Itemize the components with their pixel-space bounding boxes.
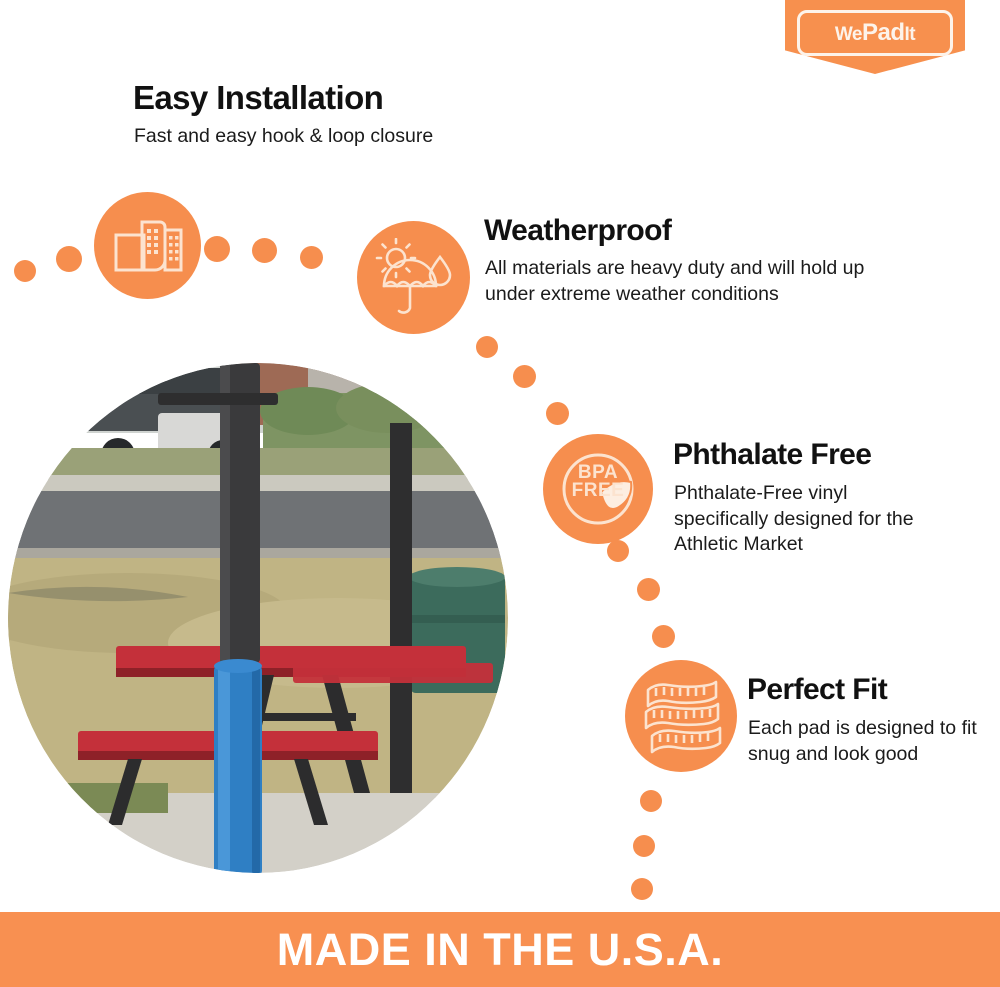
icon-circle-phthalate-free: BPA FREE	[543, 434, 653, 544]
logo-outline-box: WePadIt	[797, 10, 953, 56]
trail-dot	[14, 260, 36, 282]
trail-dot	[204, 236, 230, 262]
trail-dot	[652, 625, 675, 648]
made-in-usa-text: MADE IN THE U.S.A.	[277, 924, 724, 976]
brand-logo: WePadIt	[785, 0, 965, 74]
feature-title-easy-installation: Easy Installation	[133, 79, 383, 117]
infographic-page: WePadIt Easy Installation Fast and easy …	[0, 0, 1000, 987]
bpa-free-leaf-icon: BPA FREE	[553, 444, 643, 534]
trail-dot	[252, 238, 277, 263]
icon-circle-perfect-fit	[625, 660, 737, 772]
feature-title-weatherproof: Weatherproof	[484, 214, 671, 248]
trail-dot	[300, 246, 323, 269]
feature-title-perfect-fit: Perfect Fit	[747, 673, 887, 707]
feature-description-phthalate-free: Phthalate-Free vinyl specifically design…	[674, 481, 944, 558]
feature-description-easy-installation: Fast and easy hook & loop closure	[134, 124, 554, 150]
bpa-label-line2: FREE	[553, 482, 643, 500]
made-in-usa-banner: MADE IN THE U.S.A.	[0, 912, 1000, 987]
feature-title-phthalate-free: Phthalate Free	[673, 438, 871, 472]
trail-dot	[633, 835, 655, 857]
feature-description-perfect-fit: Each pad is designed to fit snug and loo…	[748, 716, 983, 767]
measuring-tape-icon	[638, 676, 724, 756]
trail-dot	[640, 790, 662, 812]
icon-circle-easy-installation	[94, 192, 201, 299]
icon-circle-weatherproof	[357, 221, 470, 334]
trail-dot	[607, 540, 629, 562]
feature-description-weatherproof: All materials are heavy duty and will ho…	[485, 256, 915, 307]
logo-wordmark: WePadIt	[835, 21, 915, 45]
trail-dot	[56, 246, 82, 272]
sun-umbrella-raindrop-icon	[372, 238, 456, 318]
trail-dot	[546, 402, 569, 425]
trail-dot	[513, 365, 536, 388]
hook-and-loop-icon	[111, 213, 185, 279]
logo-word-we: We	[835, 24, 862, 45]
trail-dot	[631, 878, 653, 900]
product-photo	[8, 363, 508, 873]
logo-word-it: It	[905, 24, 916, 45]
logo-word-pad: Pad	[862, 19, 905, 46]
trail-dot	[476, 336, 498, 358]
trail-dot	[637, 578, 660, 601]
